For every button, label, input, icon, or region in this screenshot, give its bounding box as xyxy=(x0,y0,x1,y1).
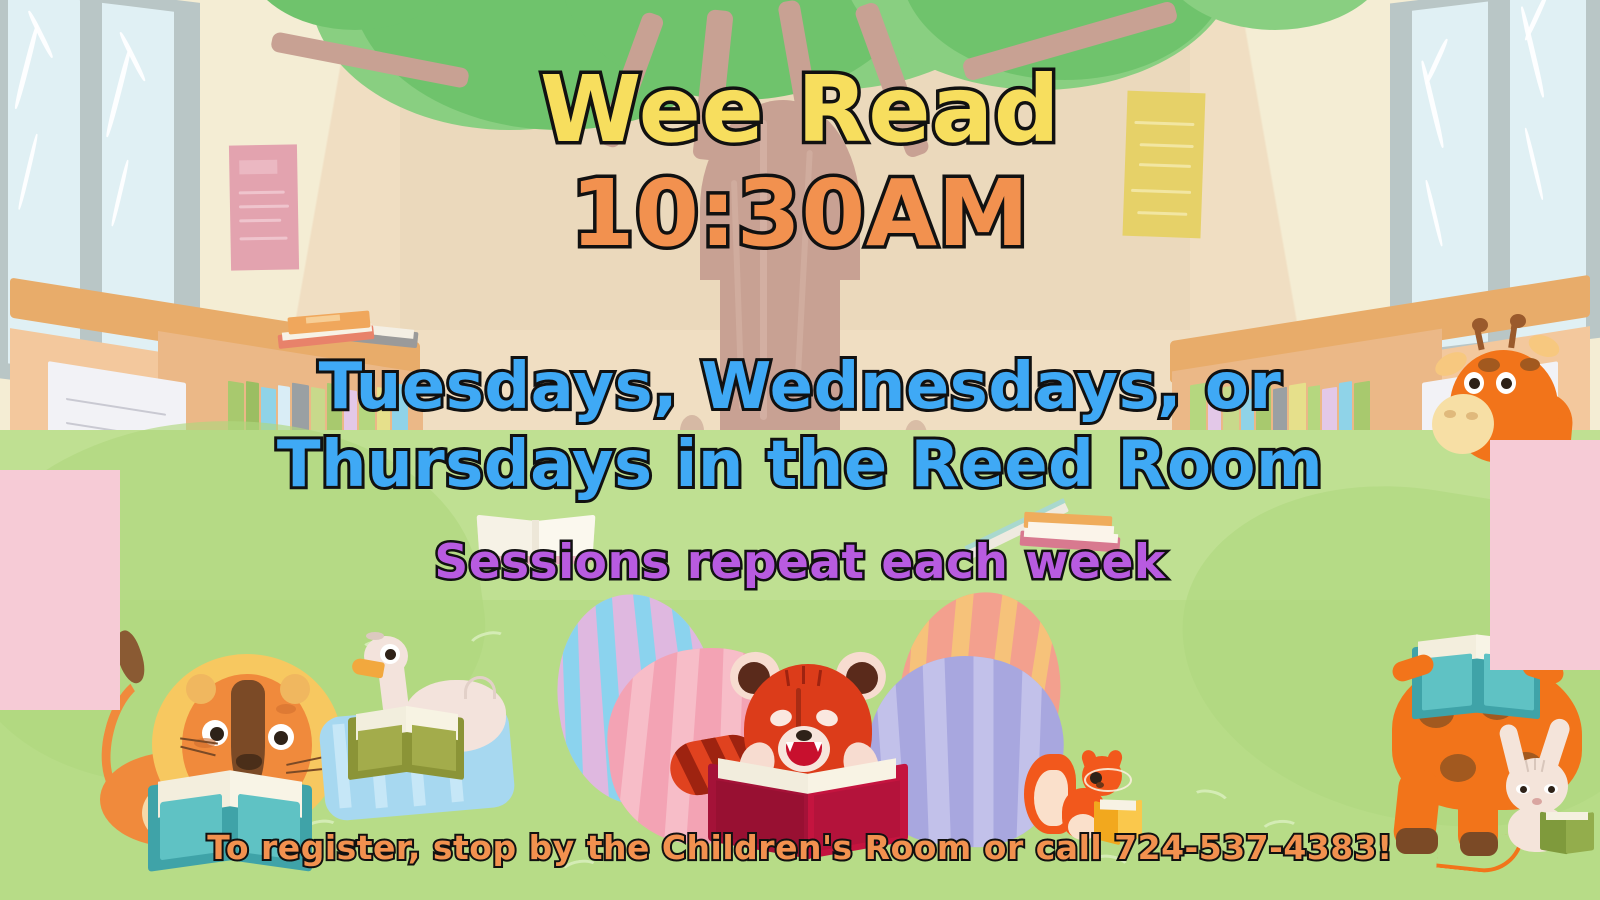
poster-canvas: Wee Read 10:30AM Tuesdays, Wednesdays, o… xyxy=(0,0,1600,900)
program-time: 10:30AM xyxy=(0,160,1600,267)
registration-info: To register, stop by the Children's Room… xyxy=(0,828,1600,867)
wall-base-pink-left xyxy=(0,470,120,710)
repeat-note: Sessions repeat each week xyxy=(0,535,1600,590)
red-panda-character xyxy=(718,642,918,842)
program-title: Wee Read xyxy=(0,56,1600,163)
schedule-line-2: Thursdays in the Reed Room xyxy=(0,428,1600,502)
swan-book xyxy=(348,710,464,776)
swan-character xyxy=(322,632,512,822)
wall-base-pink-right xyxy=(1490,440,1600,670)
squirrel-glasses xyxy=(1084,768,1132,792)
schedule-line-1: Tuesdays, Wednesdays, or xyxy=(0,350,1600,424)
